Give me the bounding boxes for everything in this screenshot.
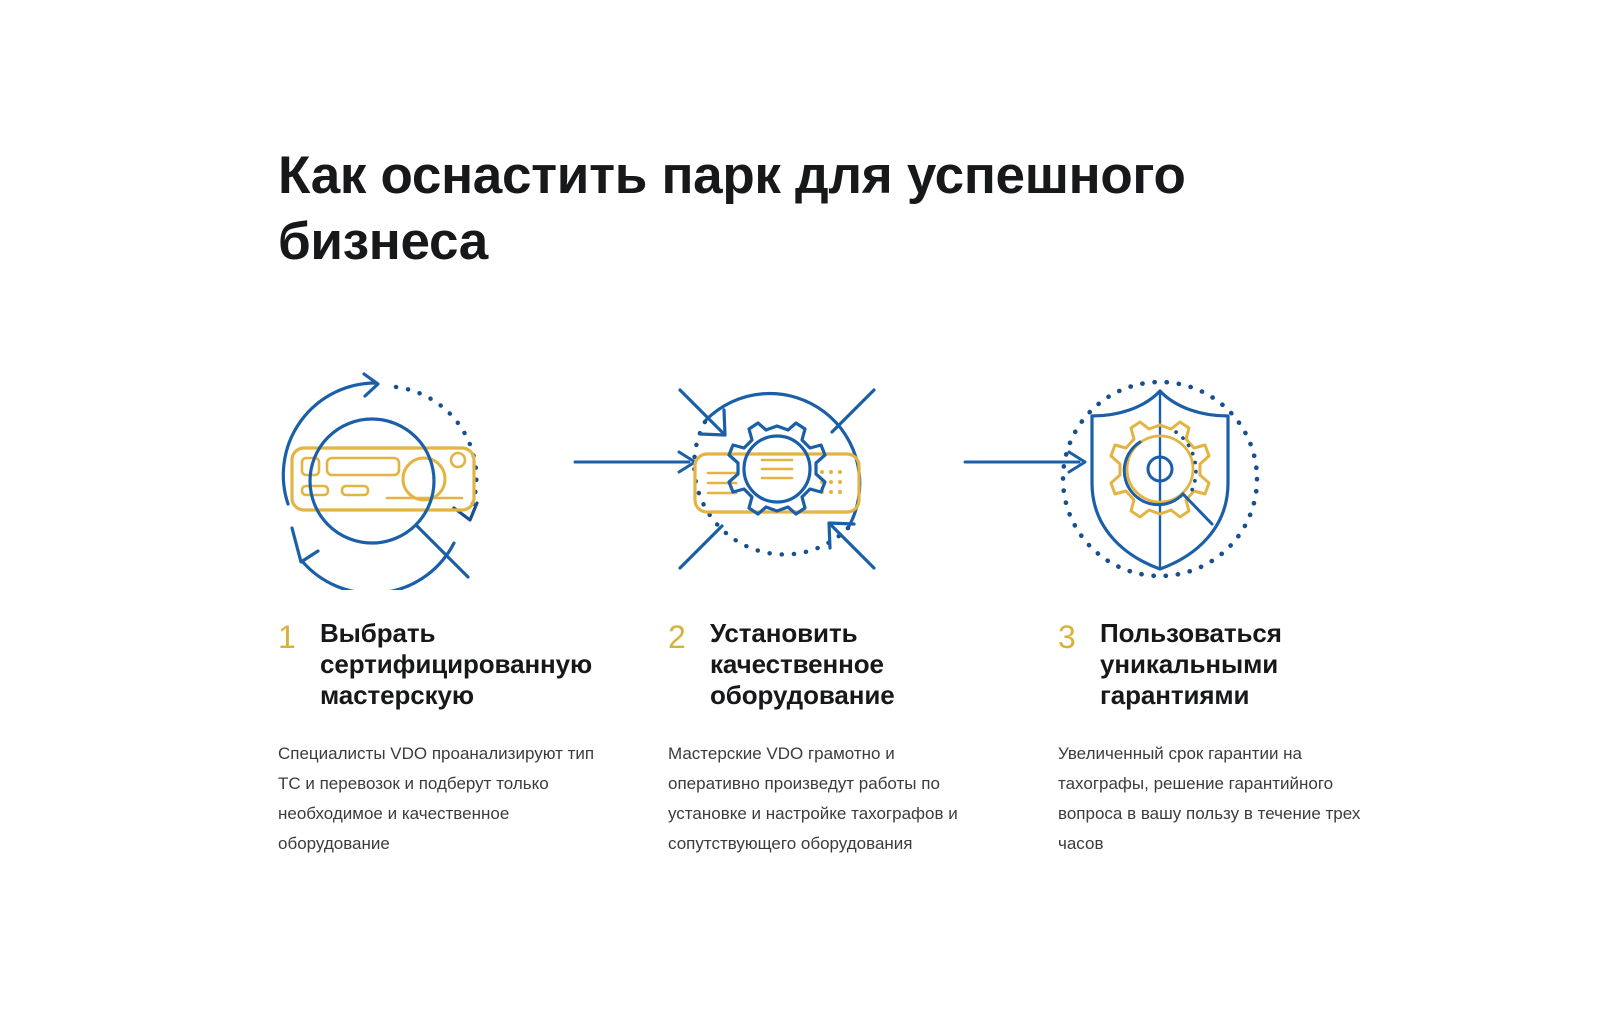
step-card-3: 3 Пользоваться уникальными гарантиями Ув…	[1058, 368, 1388, 859]
step-number-1: 1	[278, 618, 320, 655]
step-card-1: 1 Выбрать сертифицированную мастерскую С…	[278, 368, 608, 859]
step-title-3: Пользоваться уникальными гарантиями	[1100, 618, 1282, 711]
page-title: Как оснастить парк для успешного бизнеса	[278, 143, 1198, 275]
step-number-2: 2	[668, 618, 710, 655]
arrow-step1-to-step2	[608, 368, 668, 588]
magnifier-over-tachograph-icon	[272, 368, 502, 590]
step-heading-3: 3 Пользоваться уникальными гарантиями	[1058, 618, 1388, 711]
step-title-2: Установить качественное оборудование	[710, 618, 895, 711]
step-description-2: Мастерские VDO грамотно и оперативно про…	[668, 739, 988, 859]
arrow-step2-to-step3	[998, 368, 1058, 588]
step-number-3: 3	[1058, 618, 1100, 655]
step-heading-1: 1 Выбрать сертифицированную мастерскую	[278, 618, 608, 711]
shield-with-gear-magnifier-icon	[1052, 368, 1282, 590]
step-title-1: Выбрать сертифицированную мастерскую	[320, 618, 592, 711]
step-description-1: Специалисты VDO проанализируют тип ТС и …	[278, 739, 598, 859]
step-card-2: 2 Установить качественное оборудование М…	[668, 368, 998, 859]
gear-over-tachograph-icon	[662, 368, 892, 590]
step-heading-2: 2 Установить качественное оборудование	[668, 618, 998, 711]
step-description-3: Увеличенный срок гарантии на тахографы, …	[1058, 739, 1378, 859]
infographic-page: Как оснастить парк для успешного бизнеса	[0, 0, 1602, 1036]
steps-row: 1 Выбрать сертифицированную мастерскую С…	[278, 368, 1368, 859]
